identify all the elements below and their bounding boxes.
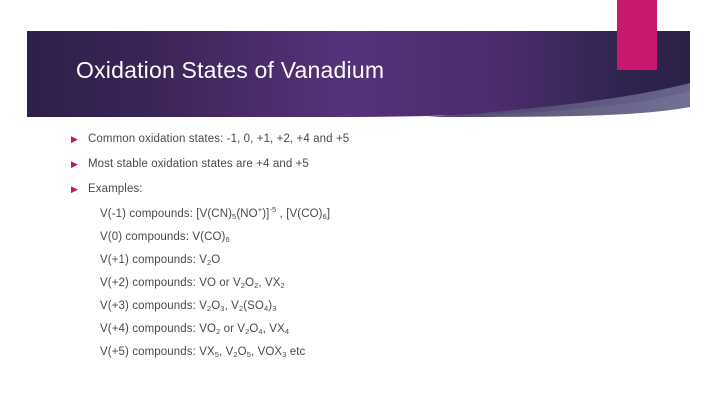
example-formula: V(CO)6 [192,231,229,243]
bullet-triangle-icon: ▶ [71,156,88,169]
page-title: Oxidation States of Vanadium [76,51,636,89]
example-row: V(+4) compounds: VO2 or V2O4, VX4 [0,321,720,337]
bullet-text: Examples: [88,181,720,197]
example-row: V(+2) compounds: VO or V2O2, VX2 [0,275,720,291]
bullet-text: Common oxidation states: -1, 0, +1, +2, … [88,131,720,147]
example-formula: V2O [199,254,220,266]
example-formula: VX5, V2O5, VOX3 etc [199,346,305,358]
example-row: V(+5) compounds: VX5, V2O5, VOX3 etc [0,344,720,360]
presentation-slide: Oxidation States of Vanadium ▶Common oxi… [0,0,720,404]
example-label: V(+4) compounds: [100,323,196,335]
slide-body: ▶Common oxidation states: -1, 0, +1, +2,… [0,131,720,404]
example-formula: V2O3, V2(SO4)3 [199,300,276,312]
bullet-row: ▶Common oxidation states: -1, 0, +1, +2,… [0,131,720,147]
example-formula: VO2 or V2O4, VX4 [199,323,289,335]
example-formula: [V(CN)5(NO+)]-5 , [V(CO)6] [196,208,330,220]
bullet-text: Most stable oxidation states are +4 and … [88,156,720,172]
bullet-row: ▶Most stable oxidation states are +4 and… [0,156,720,172]
bullet-row: ▶Examples: [0,181,720,197]
example-label: V(+5) compounds: [100,346,196,358]
example-list: V(-1) compounds: [V(CN)5(NO+)]-5 , [V(CO… [0,206,720,360]
example-row: V(+3) compounds: V2O3, V2(SO4)3 [0,298,720,314]
example-label: V(+2) compounds: [100,277,196,289]
bullet-triangle-icon: ▶ [71,131,88,144]
bullet-triangle-icon: ▶ [71,181,88,194]
example-label: V(-1) compounds: [100,208,193,220]
example-row: V(+1) compounds: V2O [0,252,720,268]
bullet-list: ▶Common oxidation states: -1, 0, +1, +2,… [0,131,720,197]
example-label: V(+3) compounds: [100,300,196,312]
example-formula: VO or V2O2, VX2 [199,277,285,289]
example-label: V(+1) compounds: [100,254,196,266]
example-row: V(-1) compounds: [V(CN)5(NO+)]-5 , [V(CO… [0,206,720,222]
example-row: V(0) compounds: V(CO)6 [0,229,720,245]
example-label: V(0) compounds: [100,231,189,243]
